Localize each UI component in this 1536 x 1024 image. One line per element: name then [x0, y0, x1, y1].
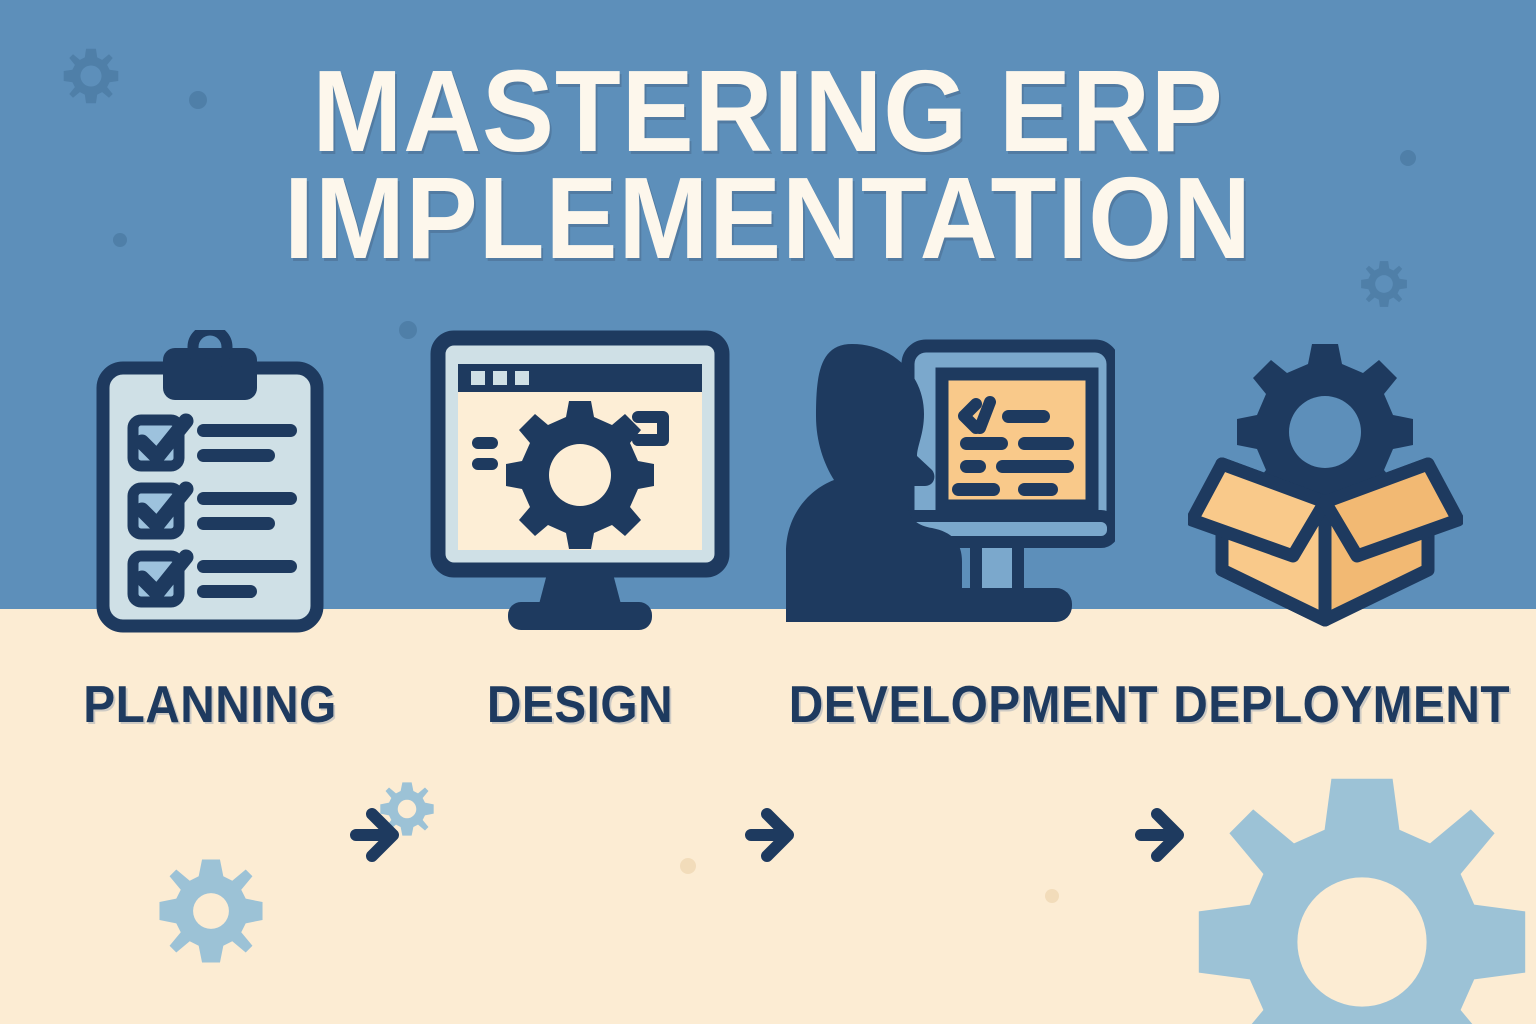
- stage-design[interactable]: DESIGN: [420, 330, 740, 750]
- page-title: MASTERING ERP IMPLEMENTATION: [54, 58, 1482, 271]
- stage-label-planning: PLANNING: [72, 675, 348, 735]
- title-line-2: IMPLEMENTATION: [54, 165, 1482, 272]
- stage-label-deployment: DEPLOYMENT: [1173, 675, 1477, 735]
- process-stage-row: PLANNING: [0, 330, 1536, 750]
- dot-decor: [680, 858, 696, 874]
- open-box-gear-icon: [1160, 330, 1490, 635]
- title-line-1: MASTERING ERP: [54, 58, 1482, 165]
- dot-decor: [1045, 889, 1059, 903]
- arrow-right-icon: [1135, 798, 1191, 872]
- stage-label-design: DESIGN: [433, 675, 727, 735]
- clipboard-checklist-icon: [60, 330, 360, 635]
- developer-at-monitor-icon: [775, 330, 1120, 635]
- stage-label-development: DEVELOPMENT: [789, 675, 1106, 735]
- arrow-right-icon: [745, 798, 801, 872]
- monitor-gear-icon: [420, 330, 740, 635]
- stage-development[interactable]: DEVELOPMENT: [775, 330, 1120, 750]
- stage-planning[interactable]: PLANNING: [60, 330, 360, 750]
- infographic-canvas: MASTERING ERP IMPLEMENTATION: [0, 0, 1536, 1024]
- stage-deployment[interactable]: DEPLOYMENT: [1160, 330, 1490, 750]
- arrow-right-icon: [350, 798, 406, 872]
